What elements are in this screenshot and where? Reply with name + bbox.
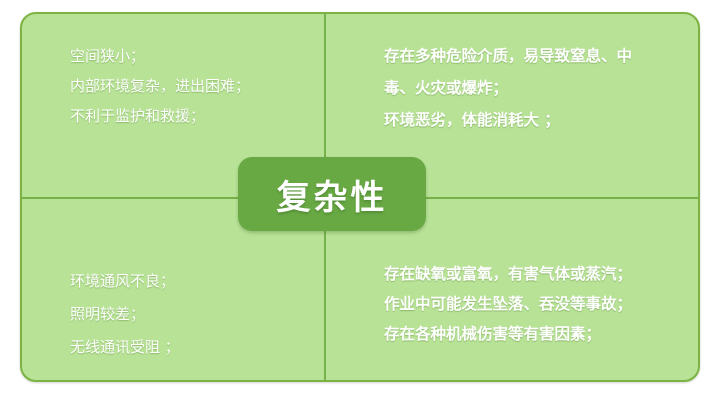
text-line: 环境恶劣，体能消耗大 ；: [384, 104, 632, 136]
text-line: 毒、火灾或爆炸；: [384, 72, 632, 104]
text-line: 无线通讯受阻 ；: [70, 331, 180, 364]
text-line: 存在各种机械伤害等有害因素；: [384, 319, 632, 349]
text-line: 环境通风不良；: [70, 265, 180, 298]
center-badge-label: 复杂性: [277, 170, 388, 219]
text-line: 不利于监护和救援；: [70, 101, 250, 131]
quadrant-top-right-text: 存在多种危险介质，易导致窒息、中 毒、火灾或爆炸； 环境恶劣，体能消耗大 ；: [384, 40, 632, 136]
text-line: 作业中可能发生坠落、吞没等事故；: [384, 289, 632, 319]
quadrant-bottom-right-text: 存在缺氧或富氧，有害气体或蒸汽； 作业中可能发生坠落、吞没等事故； 存在各种机械…: [384, 259, 632, 349]
diagram-canvas: 空间狭小； 内部环境复杂，进出困难； 不利于监护和救援； 存在多种危险介质，易导…: [0, 0, 720, 400]
text-line: 内部环境复杂，进出困难；: [70, 71, 250, 101]
text-line: 存在缺氧或富氧，有害气体或蒸汽；: [384, 259, 632, 289]
quadrant-top-left-text: 空间狭小； 内部环境复杂，进出困难； 不利于监护和救援；: [70, 41, 250, 131]
center-badge: 复杂性: [238, 157, 426, 231]
text-line: 空间狭小；: [70, 41, 250, 71]
text-line: 存在多种危险介质，易导致窒息、中: [384, 40, 632, 72]
text-line: 照明较差；: [70, 298, 180, 331]
quadrant-bottom-left-text: 环境通风不良； 照明较差； 无线通讯受阻 ；: [70, 265, 180, 364]
